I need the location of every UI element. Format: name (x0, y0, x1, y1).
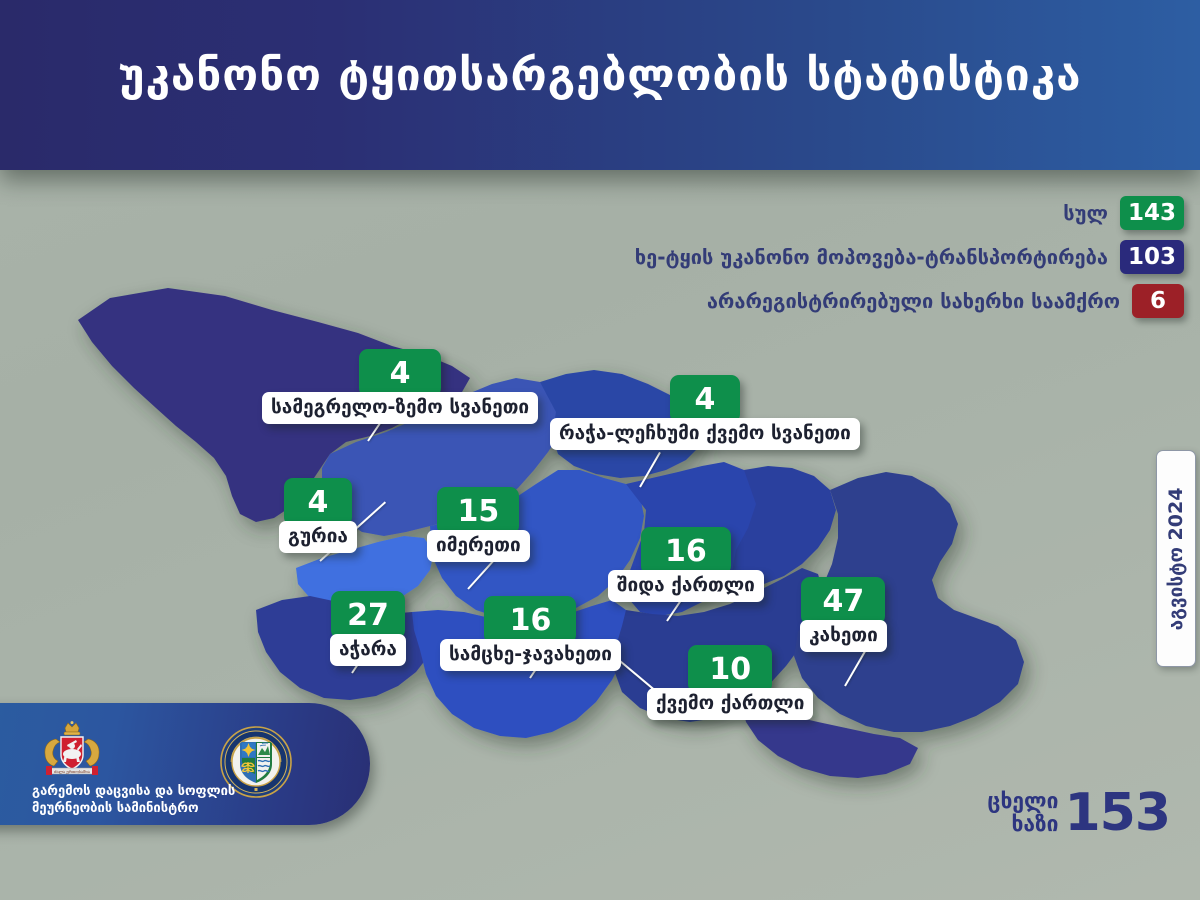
legend-label-sawmill: არარეგისტრირებული სახერხი საამქრო (707, 289, 1120, 313)
legend-value-total: 143 (1120, 196, 1184, 230)
callout-samegrelo[interactable]: 4 სამეგრელო-ზემო სვანეთი (262, 349, 538, 424)
legend-row-sawmill: არარეგისტრირებული სახერხი საამქრო 6 (635, 284, 1184, 318)
legend-row-total: სულ 143 (635, 196, 1184, 230)
callout-imereti[interactable]: 15 იმერეთი (427, 487, 530, 562)
callout-label-adjara: აჭარა (330, 634, 406, 666)
callout-kvemo[interactable]: 10 ქვემო ქართლი (647, 645, 813, 720)
callout-value-kakheti: 47 (801, 577, 885, 625)
callout-label-shida: შიდა ქართლი (608, 570, 764, 602)
callout-label-imereti: იმერეთი (427, 530, 530, 562)
callout-value-kvemo: 10 (688, 645, 772, 693)
legend: სულ 143 ხე-ტყის უკანონო მოპოვება-ტრანსპო… (635, 196, 1184, 328)
callout-adjara[interactable]: 27 აჭარა (330, 591, 406, 666)
crown-icon (64, 721, 80, 735)
hotline-label: ცხელი ხაზი (987, 790, 1058, 836)
callout-label-samegrelo: სამეგრელო-ზემო სვანეთი (262, 392, 538, 424)
ministry-footer-bar: ძალა ერთობაშია (0, 703, 370, 825)
callout-value-imereti: 15 (437, 487, 519, 535)
callout-label-kvemo: ქვემო ქართლი (647, 688, 813, 720)
ministry-name: გარემოს დაცვისა და სოფლის მეურნეობის სამ… (32, 783, 235, 817)
georgia-coat-of-arms-icon: ძალა ერთობაშია (32, 721, 112, 779)
infographic-poster: უკანონო ტყითსარგებლობის სტატისტიკა (0, 0, 1200, 900)
hotline-number: 153 (1064, 788, 1170, 838)
legend-label-logging: ხე-ტყის უკანონო მოპოვება-ტრანსპორტირება (635, 245, 1108, 269)
callout-value-racha: 4 (670, 375, 740, 423)
callout-shida[interactable]: 16 შიდა ქართლი (608, 527, 764, 602)
date-tab-label: აგვისტო 2024 (1165, 487, 1187, 630)
callout-label-racha: რაჭა-ლეჩხუმი ქვემო სვანეთი (550, 418, 860, 450)
legend-value-sawmill: 6 (1132, 284, 1184, 318)
callout-racha[interactable]: 4 რაჭა-ლეჩხუმი ქვემო სვანეთი (550, 375, 860, 450)
callout-samtskhe[interactable]: 16 სამცხე-ჯავახეთი (440, 596, 621, 671)
callout-value-adjara: 27 (331, 591, 405, 639)
hotline: ცხელი ხაზი 153 (987, 788, 1170, 838)
callout-label-samtskhe: სამცხე-ჯავახეთი (440, 639, 621, 671)
svg-text:ძალა ერთობაშია: ძალა ერთობაშია (54, 769, 90, 774)
header-bar: უკანონო ტყითსარგებლობის სტატისტიკა (0, 0, 1200, 170)
date-tab: აგვისტო 2024 (1156, 450, 1196, 667)
callout-label-guria: გურია (279, 521, 357, 553)
lion-left-icon (45, 739, 60, 766)
callout-guria[interactable]: 4 გურია (279, 478, 357, 553)
legend-value-logging: 103 (1120, 240, 1184, 274)
lion-right-icon (84, 739, 99, 766)
callout-value-shida: 16 (641, 527, 731, 575)
legend-row-logging: ხე-ტყის უკანონო მოპოვება-ტრანსპორტირება … (635, 240, 1184, 274)
callout-value-guria: 4 (284, 478, 352, 526)
legend-label-total: სულ (1063, 201, 1108, 225)
page-title: უკანონო ტყითსარგებლობის სტატისტიკა (0, 46, 1200, 106)
callout-kakheti[interactable]: 47 კახეთი (800, 577, 887, 652)
callout-value-samtskhe: 16 (484, 596, 576, 644)
callout-value-samegrelo: 4 (359, 349, 441, 397)
